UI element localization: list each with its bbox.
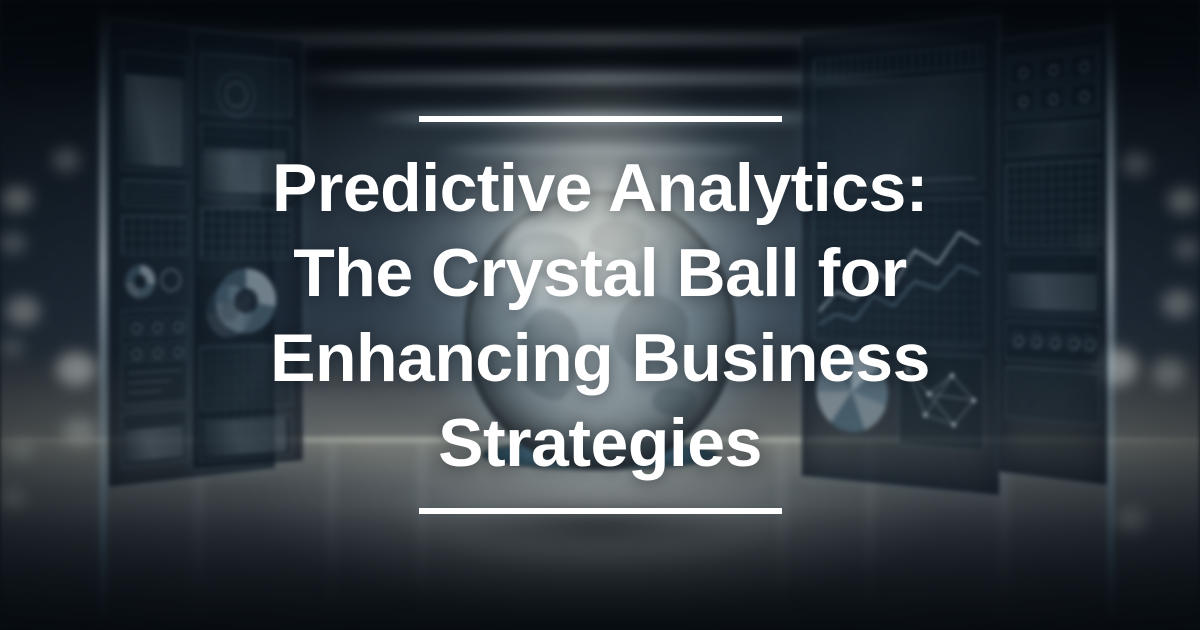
divider-rule-bottom [419,508,782,514]
hero-banner: Predictive Analytics: The Crystal Ball f… [0,0,1200,630]
page-title: Predictive Analytics: The Crystal Ball f… [240,146,960,486]
title-overlay: Predictive Analytics: The Crystal Ball f… [0,0,1200,630]
divider-rule-top [419,116,782,122]
